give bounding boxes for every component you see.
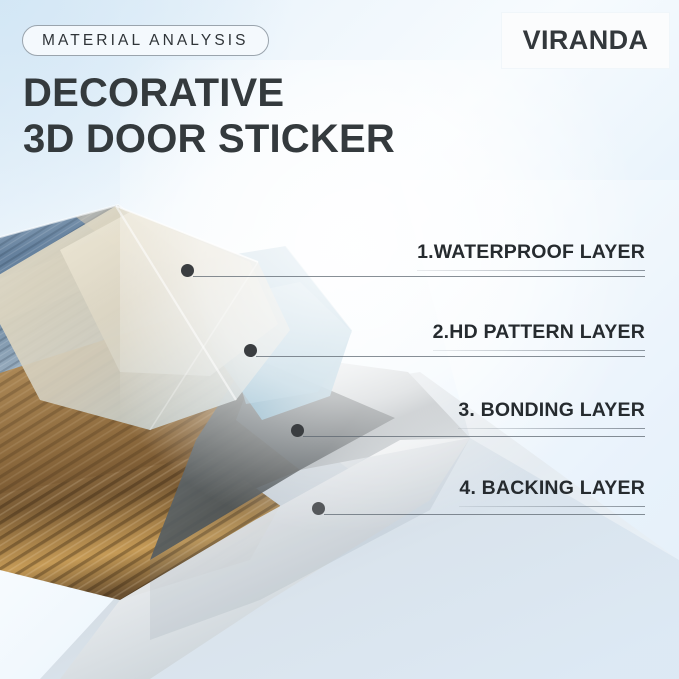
page-title-line-2: 3D DOOR STICKER [23, 117, 395, 162]
leader-line-3 [303, 436, 645, 437]
page-title-line-1: DECORATIVE [23, 71, 284, 116]
leader-line-1 [193, 276, 645, 277]
callout-bonding-layer: 3. BONDING LAYER [458, 401, 645, 429]
callout-dot-2 [244, 344, 257, 357]
callout-label-4: 4. BACKING LAYER [459, 479, 645, 499]
leader-line-4 [324, 514, 645, 515]
callout-dot-4 [312, 502, 325, 515]
brand-name: VIRANDA [523, 25, 649, 56]
leader-line-2 [256, 356, 645, 357]
callout-hd-pattern-layer: 2.HD PATTERN LAYER [433, 323, 645, 351]
callout-rule-3 [458, 428, 645, 429]
callout-rule-1 [417, 270, 645, 271]
callout-waterproof-layer: 1.WATERPROOF LAYER [417, 243, 645, 271]
callout-rule-2 [433, 350, 645, 351]
material-analysis-infographic: MATERIAL ANALYSIS DECORATIVE 3D DOOR STI… [0, 0, 679, 679]
callout-dot-3 [291, 424, 304, 437]
callout-backing-layer: 4. BACKING LAYER [459, 479, 645, 507]
material-analysis-badge: MATERIAL ANALYSIS [22, 25, 269, 56]
callout-label-1: 1.WATERPROOF LAYER [417, 243, 645, 263]
callout-label-3: 3. BONDING LAYER [458, 401, 645, 421]
badge-label: MATERIAL ANALYSIS [42, 32, 249, 50]
callout-dot-1 [181, 264, 194, 277]
callout-label-2: 2.HD PATTERN LAYER [433, 323, 645, 343]
brand-logo: VIRANDA [502, 13, 669, 68]
callout-rule-4 [459, 506, 645, 507]
